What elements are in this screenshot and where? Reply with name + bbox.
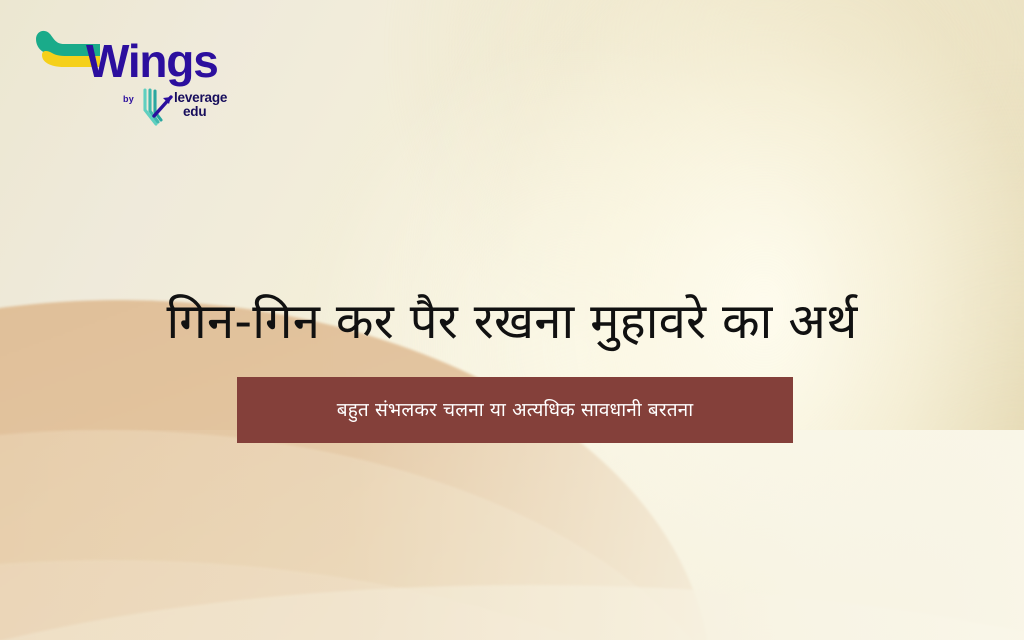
- wings-wordmark: Wings: [86, 38, 218, 84]
- page-title: गिन-गिन कर पैर रखना मुहावरे का अर्थ: [0, 291, 1024, 352]
- logo-by-label: by: [123, 94, 134, 104]
- leverage-edu-text: leverage edu: [174, 91, 227, 119]
- leverage-check-icon: [140, 88, 174, 130]
- leverage-edu-lockup: leverage edu: [140, 88, 240, 132]
- leverage-edu-line1: leverage: [174, 90, 227, 105]
- brand-logo[interactable]: Wings by leverage edu: [18, 20, 228, 135]
- poster-canvas: Wings by leverage edu गिन-गिन कर पैर रखन…: [0, 0, 1024, 640]
- leverage-edu-line2: edu: [174, 105, 227, 119]
- meaning-banner: बहुत संभलकर चलना या अत्यधिक सावधानी बरतन…: [237, 377, 793, 443]
- meaning-text: बहुत संभलकर चलना या अत्यधिक सावधानी बरतन…: [337, 398, 693, 423]
